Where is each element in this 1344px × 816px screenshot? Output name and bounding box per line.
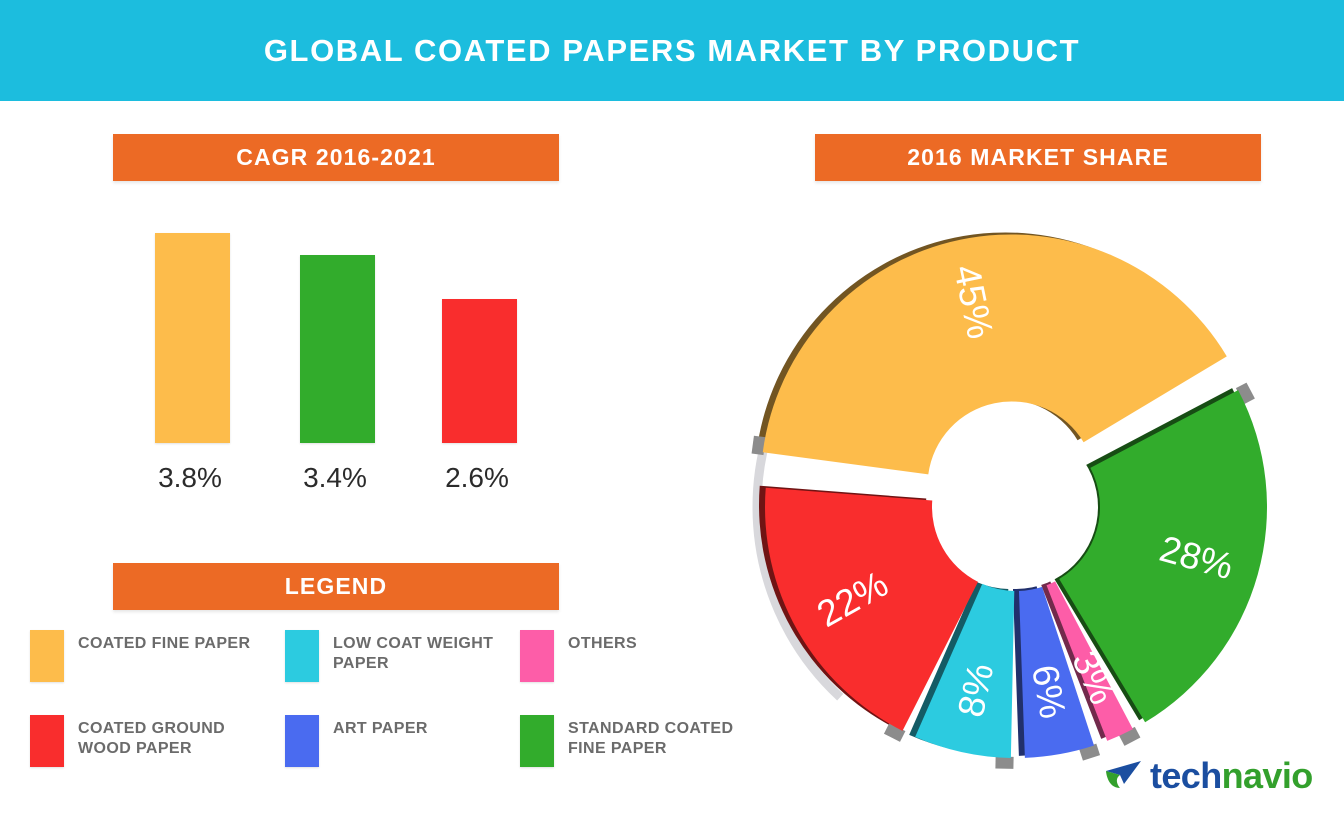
legend-item: LOW COAT WEIGHT PAPER <box>285 630 533 682</box>
legend-item-label: STANDARD COATED FINE PAPER <box>568 715 760 759</box>
legend-color-swatch <box>285 715 319 767</box>
logo-text-navio: navio <box>1222 755 1313 796</box>
cagr-bar-chart: 3.8%3.4%2.6% <box>130 200 550 500</box>
paper-plane-icon <box>1104 758 1144 794</box>
legend-color-swatch <box>520 630 554 682</box>
donut-center-hole <box>934 425 1098 589</box>
legend-banner-label: LEGEND <box>285 573 387 600</box>
market-share-section-banner: 2016 MARKET SHARE <box>815 134 1261 181</box>
bar-value-label: 3.8% <box>130 462 250 494</box>
bar-value-label: 2.6% <box>417 462 537 494</box>
legend-item-label: COATED FINE PAPER <box>78 630 250 654</box>
donut-svg: 45%28%3%6%8%22% <box>735 190 1315 790</box>
logo-wordmark: technavio <box>1150 758 1313 794</box>
cagr-section-banner: CAGR 2016-2021 <box>113 134 559 181</box>
infographic-page: GLOBAL COATED PAPERS MARKET BY PRODUCT C… <box>0 0 1344 816</box>
technavio-logo: technavio <box>1104 752 1328 800</box>
page-title: GLOBAL COATED PAPERS MARKET BY PRODUCT <box>264 33 1080 69</box>
bar <box>155 233 230 443</box>
bar-group: 3.4% <box>275 200 385 500</box>
legend-grid: COATED FINE PAPERLOW COAT WEIGHT PAPEROT… <box>30 630 760 805</box>
legend-color-swatch <box>30 630 64 682</box>
market-share-banner-label: 2016 MARKET SHARE <box>907 144 1169 171</box>
cagr-banner-label: CAGR 2016-2021 <box>236 144 436 171</box>
bar <box>300 255 375 443</box>
legend-color-swatch <box>30 715 64 767</box>
market-share-donut-chart: 45%28%3%6%8%22% <box>735 190 1315 790</box>
bar-group: 3.8% <box>130 200 240 500</box>
legend-section-banner: LEGEND <box>113 563 559 610</box>
legend-item-label: OTHERS <box>568 630 637 654</box>
bar-group: 2.6% <box>417 200 527 500</box>
bar <box>442 299 517 443</box>
logo-text-tech: tech <box>1150 755 1222 796</box>
header-bar: GLOBAL COATED PAPERS MARKET BY PRODUCT <box>0 0 1344 101</box>
bar-value-label: 3.4% <box>275 462 395 494</box>
legend-item-label: LOW COAT WEIGHT PAPER <box>333 630 533 674</box>
legend-item-label: ART PAPER <box>333 715 428 739</box>
legend-item: COATED FINE PAPER <box>30 630 250 682</box>
legend-item-label: COATED GROUND WOOD PAPER <box>78 715 253 759</box>
legend-item: STANDARD COATED FINE PAPER <box>520 715 760 767</box>
legend-item: COATED GROUND WOOD PAPER <box>30 715 253 767</box>
legend-color-swatch <box>520 715 554 767</box>
donut-slice-tab <box>995 757 1013 769</box>
legend-color-swatch <box>285 630 319 682</box>
legend-item: OTHERS <box>520 630 637 682</box>
legend-item: ART PAPER <box>285 715 428 767</box>
